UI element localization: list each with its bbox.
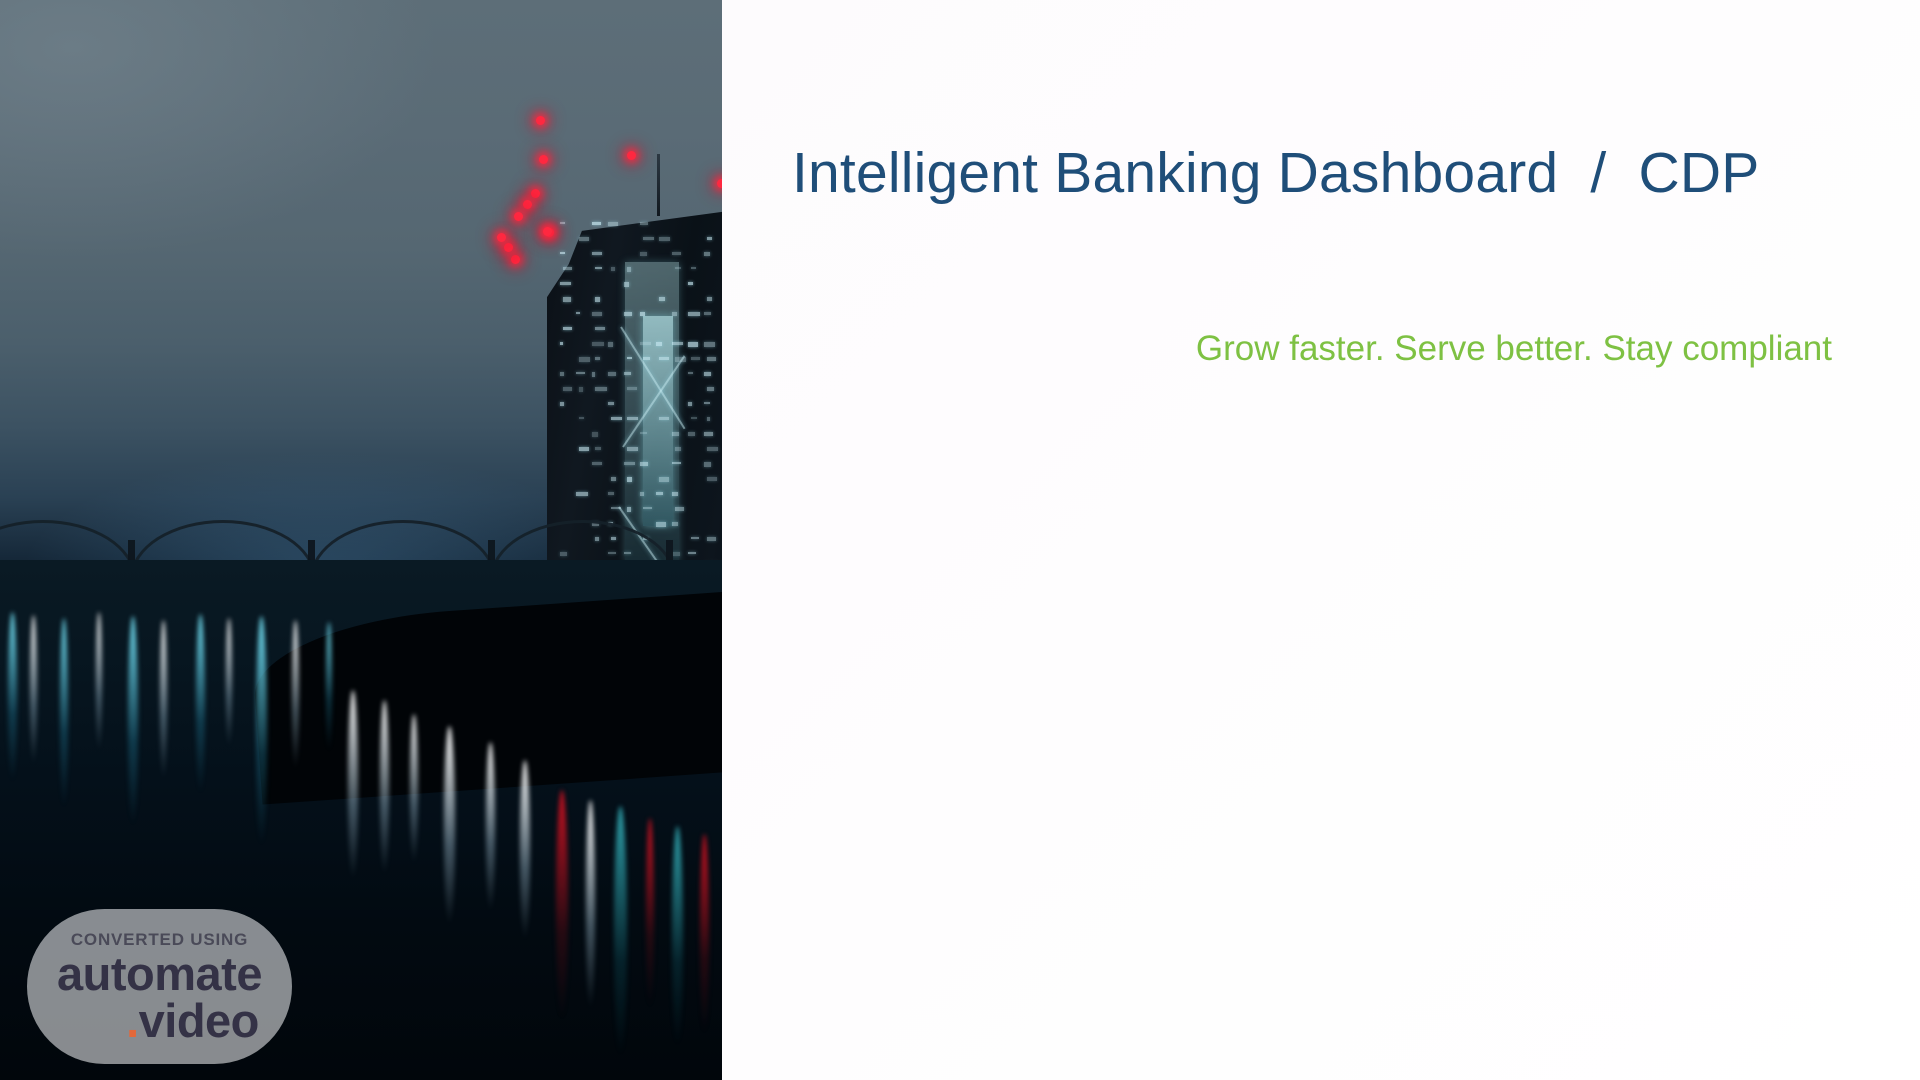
light-reflection xyxy=(520,760,530,940)
tower-window xyxy=(608,492,614,495)
light-reflection xyxy=(326,622,332,752)
tower-window xyxy=(704,312,711,315)
light-reflection xyxy=(292,620,299,770)
tower-window xyxy=(688,432,695,436)
tower-window xyxy=(672,462,681,464)
tower-window xyxy=(707,417,710,421)
tower-window xyxy=(611,417,622,420)
tower-window xyxy=(576,492,588,496)
tower-window xyxy=(579,387,583,392)
aviation-light xyxy=(504,243,513,252)
tower-window xyxy=(627,357,632,359)
tower-window xyxy=(656,342,662,346)
tower-window xyxy=(592,432,598,437)
tower-window xyxy=(595,447,601,450)
tower-window xyxy=(675,357,686,362)
light-reflection xyxy=(646,818,654,1008)
tower-window xyxy=(624,312,632,316)
tower-window xyxy=(691,417,697,419)
slide-content-area: Intelligent Banking Dashboard / CDP Grow… xyxy=(722,0,1920,1080)
tower-window xyxy=(563,327,572,330)
light-reflection xyxy=(380,700,389,875)
tower-window xyxy=(656,492,663,495)
watermark-brand: automate xyxy=(57,951,262,996)
tower-window xyxy=(579,237,589,241)
tower-window xyxy=(688,402,692,406)
tower-window xyxy=(595,297,600,302)
tower-window xyxy=(611,267,615,271)
tower-window xyxy=(672,342,683,345)
tower-window xyxy=(563,387,572,391)
tower-window xyxy=(560,402,564,406)
light-reflection xyxy=(486,742,495,912)
tower-window xyxy=(579,447,589,451)
tower-window xyxy=(592,222,601,225)
tower-window xyxy=(592,372,595,377)
tower-window xyxy=(691,357,700,360)
tower-window xyxy=(672,432,679,436)
aviation-light xyxy=(514,212,523,221)
tower-window xyxy=(707,237,712,240)
tower-window xyxy=(707,447,718,451)
tower-window xyxy=(707,297,712,301)
tower-window xyxy=(707,357,716,361)
presentation-slide: CONVERTED USING automate .video Intellig… xyxy=(0,0,1920,1080)
aviation-light xyxy=(536,116,545,125)
light-reflection xyxy=(196,614,205,794)
tower-window xyxy=(560,342,563,345)
tower-window xyxy=(563,297,571,302)
tower-window xyxy=(624,462,635,465)
tower-window xyxy=(608,372,616,376)
tower-window xyxy=(595,267,602,269)
tower-window xyxy=(640,312,645,316)
tower-window xyxy=(707,477,717,481)
tower-window xyxy=(672,312,677,316)
tower-window xyxy=(592,342,604,346)
tower-window xyxy=(627,387,637,390)
tower-window xyxy=(704,402,710,404)
tower-window xyxy=(672,252,681,255)
light-reflection xyxy=(410,714,418,864)
tower-window xyxy=(640,432,647,434)
light-reflection xyxy=(444,726,455,926)
tower-window xyxy=(659,357,669,360)
tower-window xyxy=(704,252,710,256)
tower-window xyxy=(627,417,638,420)
tower-window xyxy=(640,492,644,496)
light-reflection xyxy=(256,616,267,846)
tower-window xyxy=(688,372,693,374)
tower-window xyxy=(611,477,616,481)
tower-window xyxy=(675,447,681,451)
tower-antenna-mast xyxy=(657,154,660,216)
tower-window xyxy=(560,222,565,224)
tower-window xyxy=(627,447,638,451)
tower-window xyxy=(659,297,665,301)
light-reflection xyxy=(60,618,68,808)
tower-window xyxy=(579,357,590,362)
tower-window xyxy=(592,252,602,255)
tower-window xyxy=(560,252,565,254)
tower-window xyxy=(688,282,693,285)
tower-window xyxy=(560,282,571,285)
tower-window xyxy=(627,267,631,272)
tower-window xyxy=(640,342,651,345)
light-reflection xyxy=(700,834,709,1034)
tower-window xyxy=(576,312,580,314)
aviation-light xyxy=(539,155,548,164)
light-reflection xyxy=(160,620,167,780)
slide-subtitle: Grow faster. Serve better. Stay complian… xyxy=(792,325,1832,373)
light-reflection xyxy=(614,806,627,1056)
tower-window xyxy=(704,372,711,376)
light-reflection xyxy=(348,690,358,880)
watermark-dot: . xyxy=(126,994,139,1047)
tower-window xyxy=(659,417,669,420)
aviation-light xyxy=(627,151,636,160)
tower-window xyxy=(560,372,564,376)
tower-window xyxy=(592,462,602,465)
tower-window xyxy=(576,372,585,374)
watermark-domain-text: video xyxy=(139,994,259,1047)
tower-window xyxy=(640,462,648,466)
aviation-light xyxy=(543,227,552,236)
tower-window xyxy=(595,387,607,391)
tower-window xyxy=(675,267,681,269)
aviation-light xyxy=(523,200,532,209)
tower-window xyxy=(691,267,696,269)
tower-window xyxy=(640,222,648,225)
watermark-domain: .video xyxy=(126,998,259,1043)
tower-window xyxy=(707,387,714,391)
tower-window xyxy=(688,312,700,316)
light-reflection xyxy=(8,612,17,782)
page-title: Intelligent Banking Dashboard / CDP xyxy=(792,128,1862,218)
tower-window xyxy=(643,357,650,360)
tower-window xyxy=(704,432,713,436)
aviation-light xyxy=(511,255,520,264)
tower-window xyxy=(672,492,678,496)
aviation-light xyxy=(497,233,506,242)
tower-window xyxy=(688,342,698,347)
light-reflection xyxy=(226,618,232,748)
tower-window xyxy=(624,372,631,375)
tower-window xyxy=(624,282,629,287)
light-reflection xyxy=(96,612,102,752)
tower-window xyxy=(608,342,613,347)
tower-window xyxy=(643,237,654,240)
light-reflection xyxy=(672,826,683,1046)
tower-window xyxy=(627,477,632,482)
tower-window xyxy=(704,462,711,467)
tower-window xyxy=(563,267,572,270)
tower-window xyxy=(659,477,669,482)
aviation-light xyxy=(531,189,540,198)
automate-video-watermark: CONVERTED USING automate .video xyxy=(27,909,292,1064)
tower-window xyxy=(608,222,618,226)
light-reflection xyxy=(586,800,595,1010)
tower-window xyxy=(579,417,584,419)
tower-window xyxy=(608,402,614,405)
tower-window xyxy=(595,327,605,330)
light-reflection xyxy=(30,615,37,765)
light-reflection xyxy=(128,616,138,826)
tower-window xyxy=(640,252,647,256)
tower-window xyxy=(704,342,715,347)
tower-window xyxy=(659,237,670,241)
light-reflection xyxy=(556,790,568,1020)
tower-window xyxy=(592,312,602,316)
cityscape-photo: CONVERTED USING automate .video xyxy=(0,0,722,1080)
tower-window xyxy=(595,357,600,360)
